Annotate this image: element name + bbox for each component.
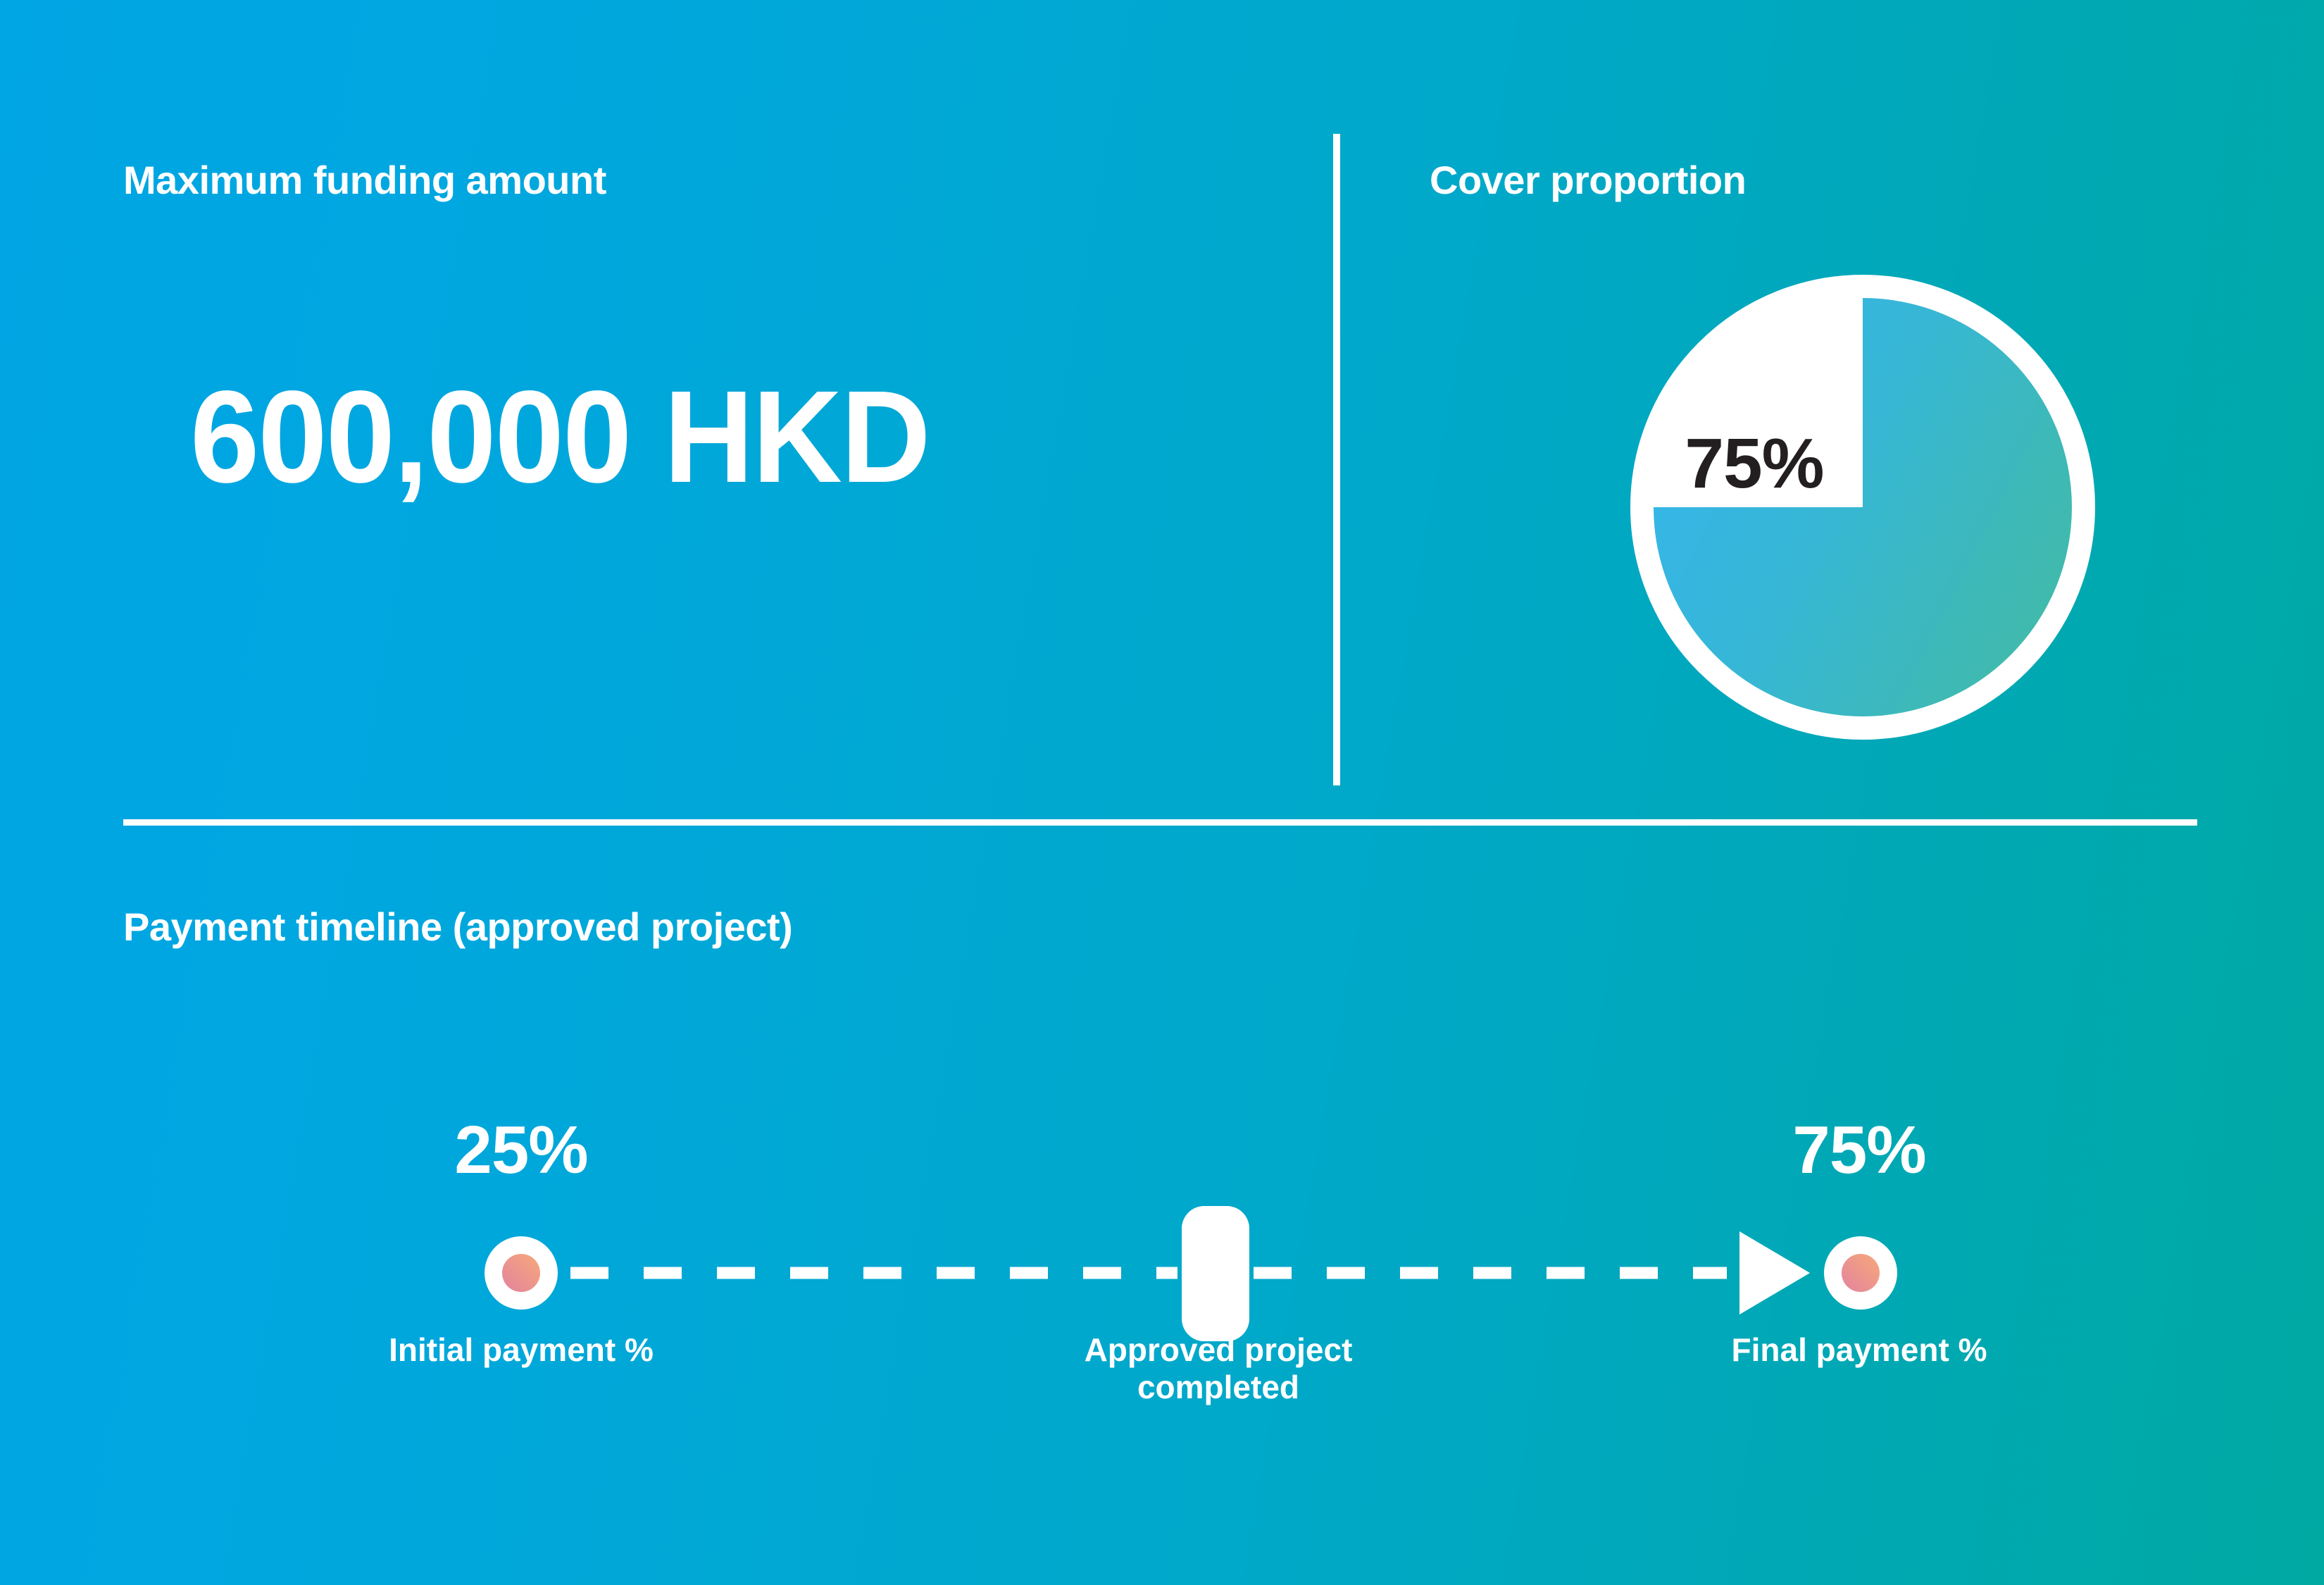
timeline-caption-initial: Initial payment %	[366, 1331, 676, 1369]
vertical-divider	[1333, 134, 1340, 785]
timeline-node-midpoint	[1182, 1206, 1249, 1341]
payment-timeline: 25% 75% Initial payment % Approved proje…	[0, 1085, 2324, 1423]
timeline-percent-final: 75%	[1718, 1117, 2000, 1184]
infographic-canvas: Maximum funding amount 600,000 HKD Cover…	[0, 0, 2324, 1585]
cover-proportion-pie-chart: 75%	[1630, 275, 2095, 740]
funding-heading: Maximum funding amount	[123, 161, 606, 200]
funding-amount-value: 600,000 HKD	[190, 372, 930, 503]
timeline-caption-final: Final payment %	[1704, 1331, 2014, 1369]
pie-percentage-label: 75%	[1646, 428, 1863, 499]
payment-timeline-heading: Payment timeline (approved project)	[123, 907, 792, 947]
cover-proportion-heading: Cover proportion	[1430, 161, 1746, 200]
horizontal-divider	[123, 819, 2197, 826]
timeline-caption-midpoint: Approved project completed	[1035, 1331, 1401, 1407]
timeline-node-initial-dot	[502, 1254, 540, 1292]
timeline-percent-initial: 25%	[380, 1117, 662, 1184]
timeline-arrow-icon	[1739, 1231, 1810, 1314]
timeline-node-final-dot	[1842, 1254, 1880, 1292]
